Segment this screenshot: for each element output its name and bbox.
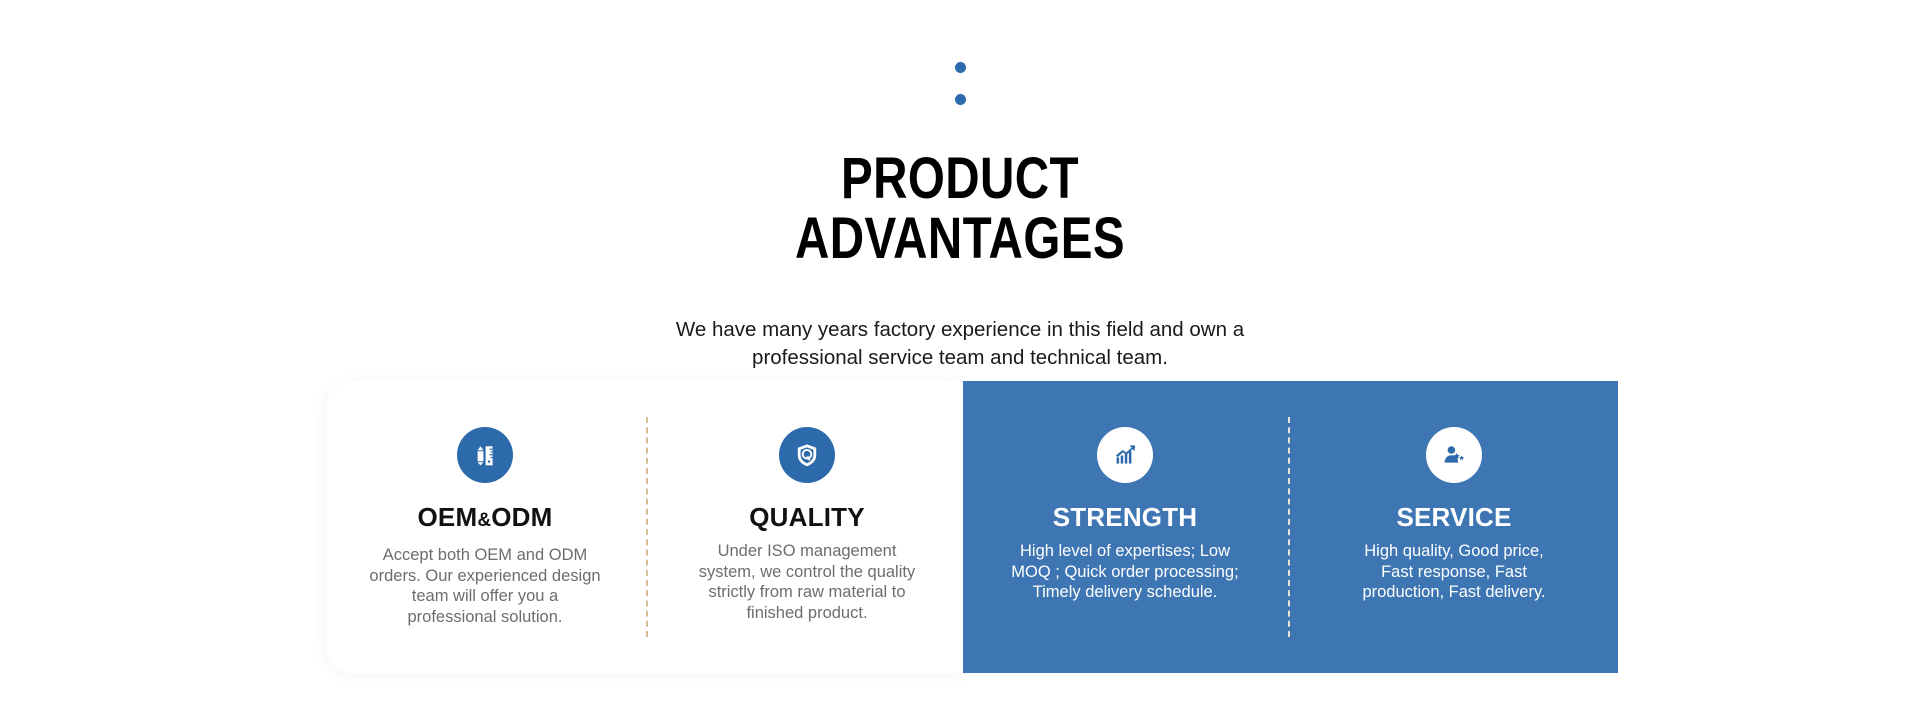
- advantage-card-oem-odm[interactable]: OEM&ODM Accept both OEM and ODM orders. …: [326, 381, 644, 673]
- card-title-ampersand: &: [477, 510, 491, 531]
- card-title-text-part2: ODM: [491, 502, 552, 532]
- decorative-dots: [0, 62, 1920, 126]
- card-title-oem-odm: OEM&ODM: [417, 503, 552, 535]
- shield-quality-icon: [779, 427, 835, 483]
- growth-chart-icon: [1097, 427, 1153, 483]
- advantage-card-service[interactable]: SERVICE High quality, Good price, Fast r…: [1290, 381, 1618, 673]
- card-description-strength: High level of expertises; Low MOQ ; Quic…: [1000, 541, 1250, 603]
- card-title-text-part1: OEM: [417, 502, 477, 532]
- card-title-strength: STRENGTH: [1053, 503, 1198, 531]
- card-description-service: High quality, Good price, Fast response,…: [1354, 541, 1554, 603]
- page-title: PRODUCT ADVANTAGES: [173, 149, 1747, 269]
- advantage-card-quality[interactable]: QUALITY Under ISO management system, we …: [648, 381, 966, 673]
- customer-stars-icon: [1426, 427, 1482, 483]
- page-subtitle: We have many years factory experience in…: [670, 316, 1250, 372]
- card-description-oem-odm: Accept both OEM and ODM orders. Our expe…: [369, 545, 601, 627]
- decorative-dot-2: [955, 94, 966, 105]
- card-description-quality: Under ISO management system, we control …: [691, 541, 923, 623]
- advantage-panels: OEM&ODM Accept both OEM and ODM orders. …: [326, 381, 1618, 673]
- page-root: PRODUCT ADVANTAGES We have many years fa…: [0, 0, 1920, 706]
- decorative-dot-1: [955, 62, 966, 73]
- page-title-line2: ADVANTAGES: [173, 209, 1747, 269]
- card-title-service: SERVICE: [1396, 503, 1511, 531]
- card-title-quality: QUALITY: [749, 503, 865, 531]
- page-title-line1: PRODUCT: [841, 146, 1079, 211]
- pencil-ruler-icon: [457, 427, 513, 483]
- advantage-card-strength[interactable]: STRENGTH High level of expertises; Low M…: [963, 381, 1287, 673]
